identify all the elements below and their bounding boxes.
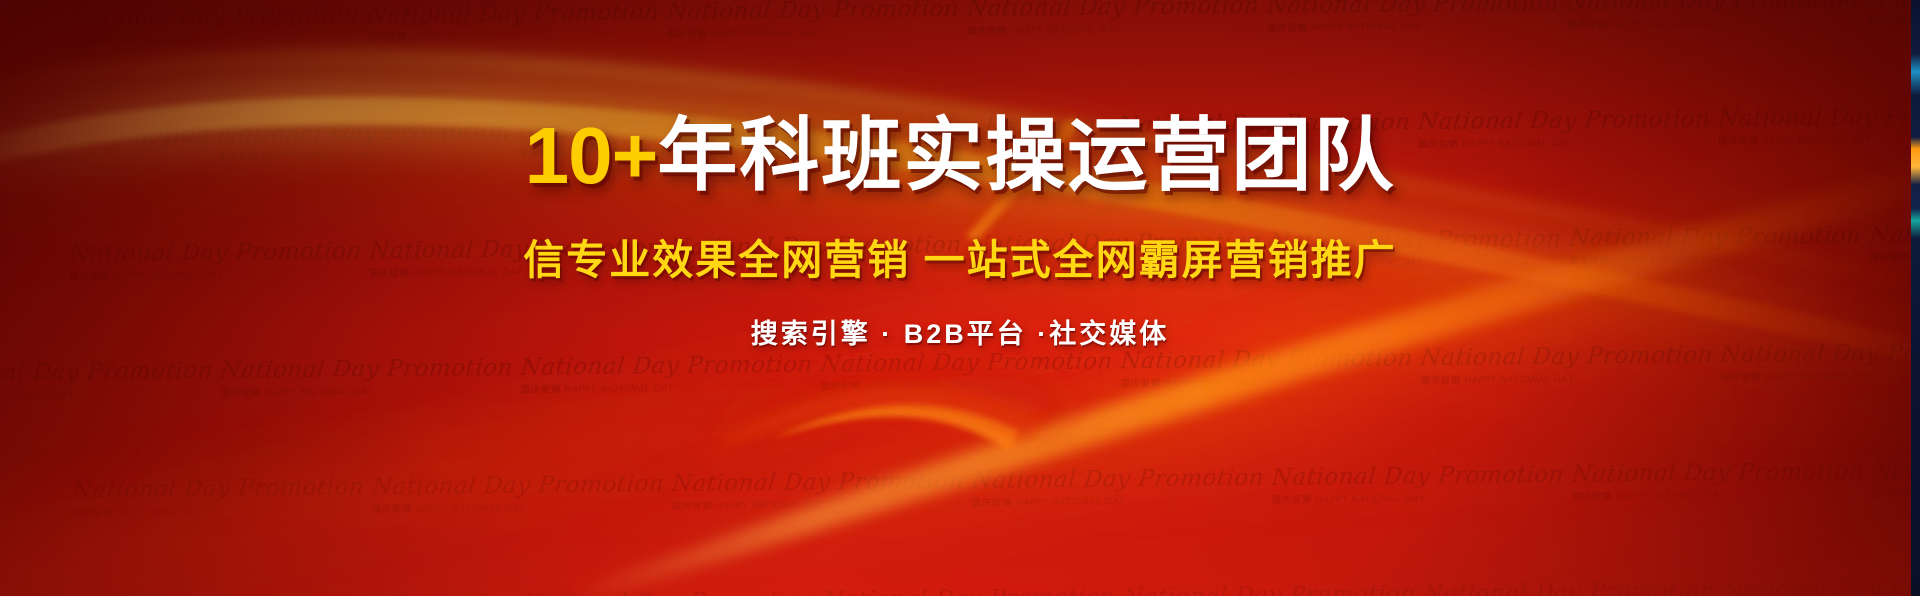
promo-banner[interactable]: National Day Promotion 国庆促销 HAPPY NATION…: [0, 0, 1920, 596]
banner-subline: 信专业效果全网营销 一站式全网霸屏营销推广: [523, 226, 1396, 286]
headline-years-badge: 10+: [525, 111, 658, 200]
banner-content: 10+年科班实操运营团队 信专业效果全网营销 一站式全网霸屏营销推广 搜索引擎 …: [0, 0, 1920, 596]
banner-headline: 10+年科班实操运营团队: [525, 116, 1396, 196]
next-slide-sliver[interactable]: [1911, 0, 1920, 596]
headline-main-text: 年科班实操运营团队: [657, 111, 1395, 200]
banner-tagline: 搜索引擎 · B2B平台 ·社交媒体: [751, 312, 1170, 351]
